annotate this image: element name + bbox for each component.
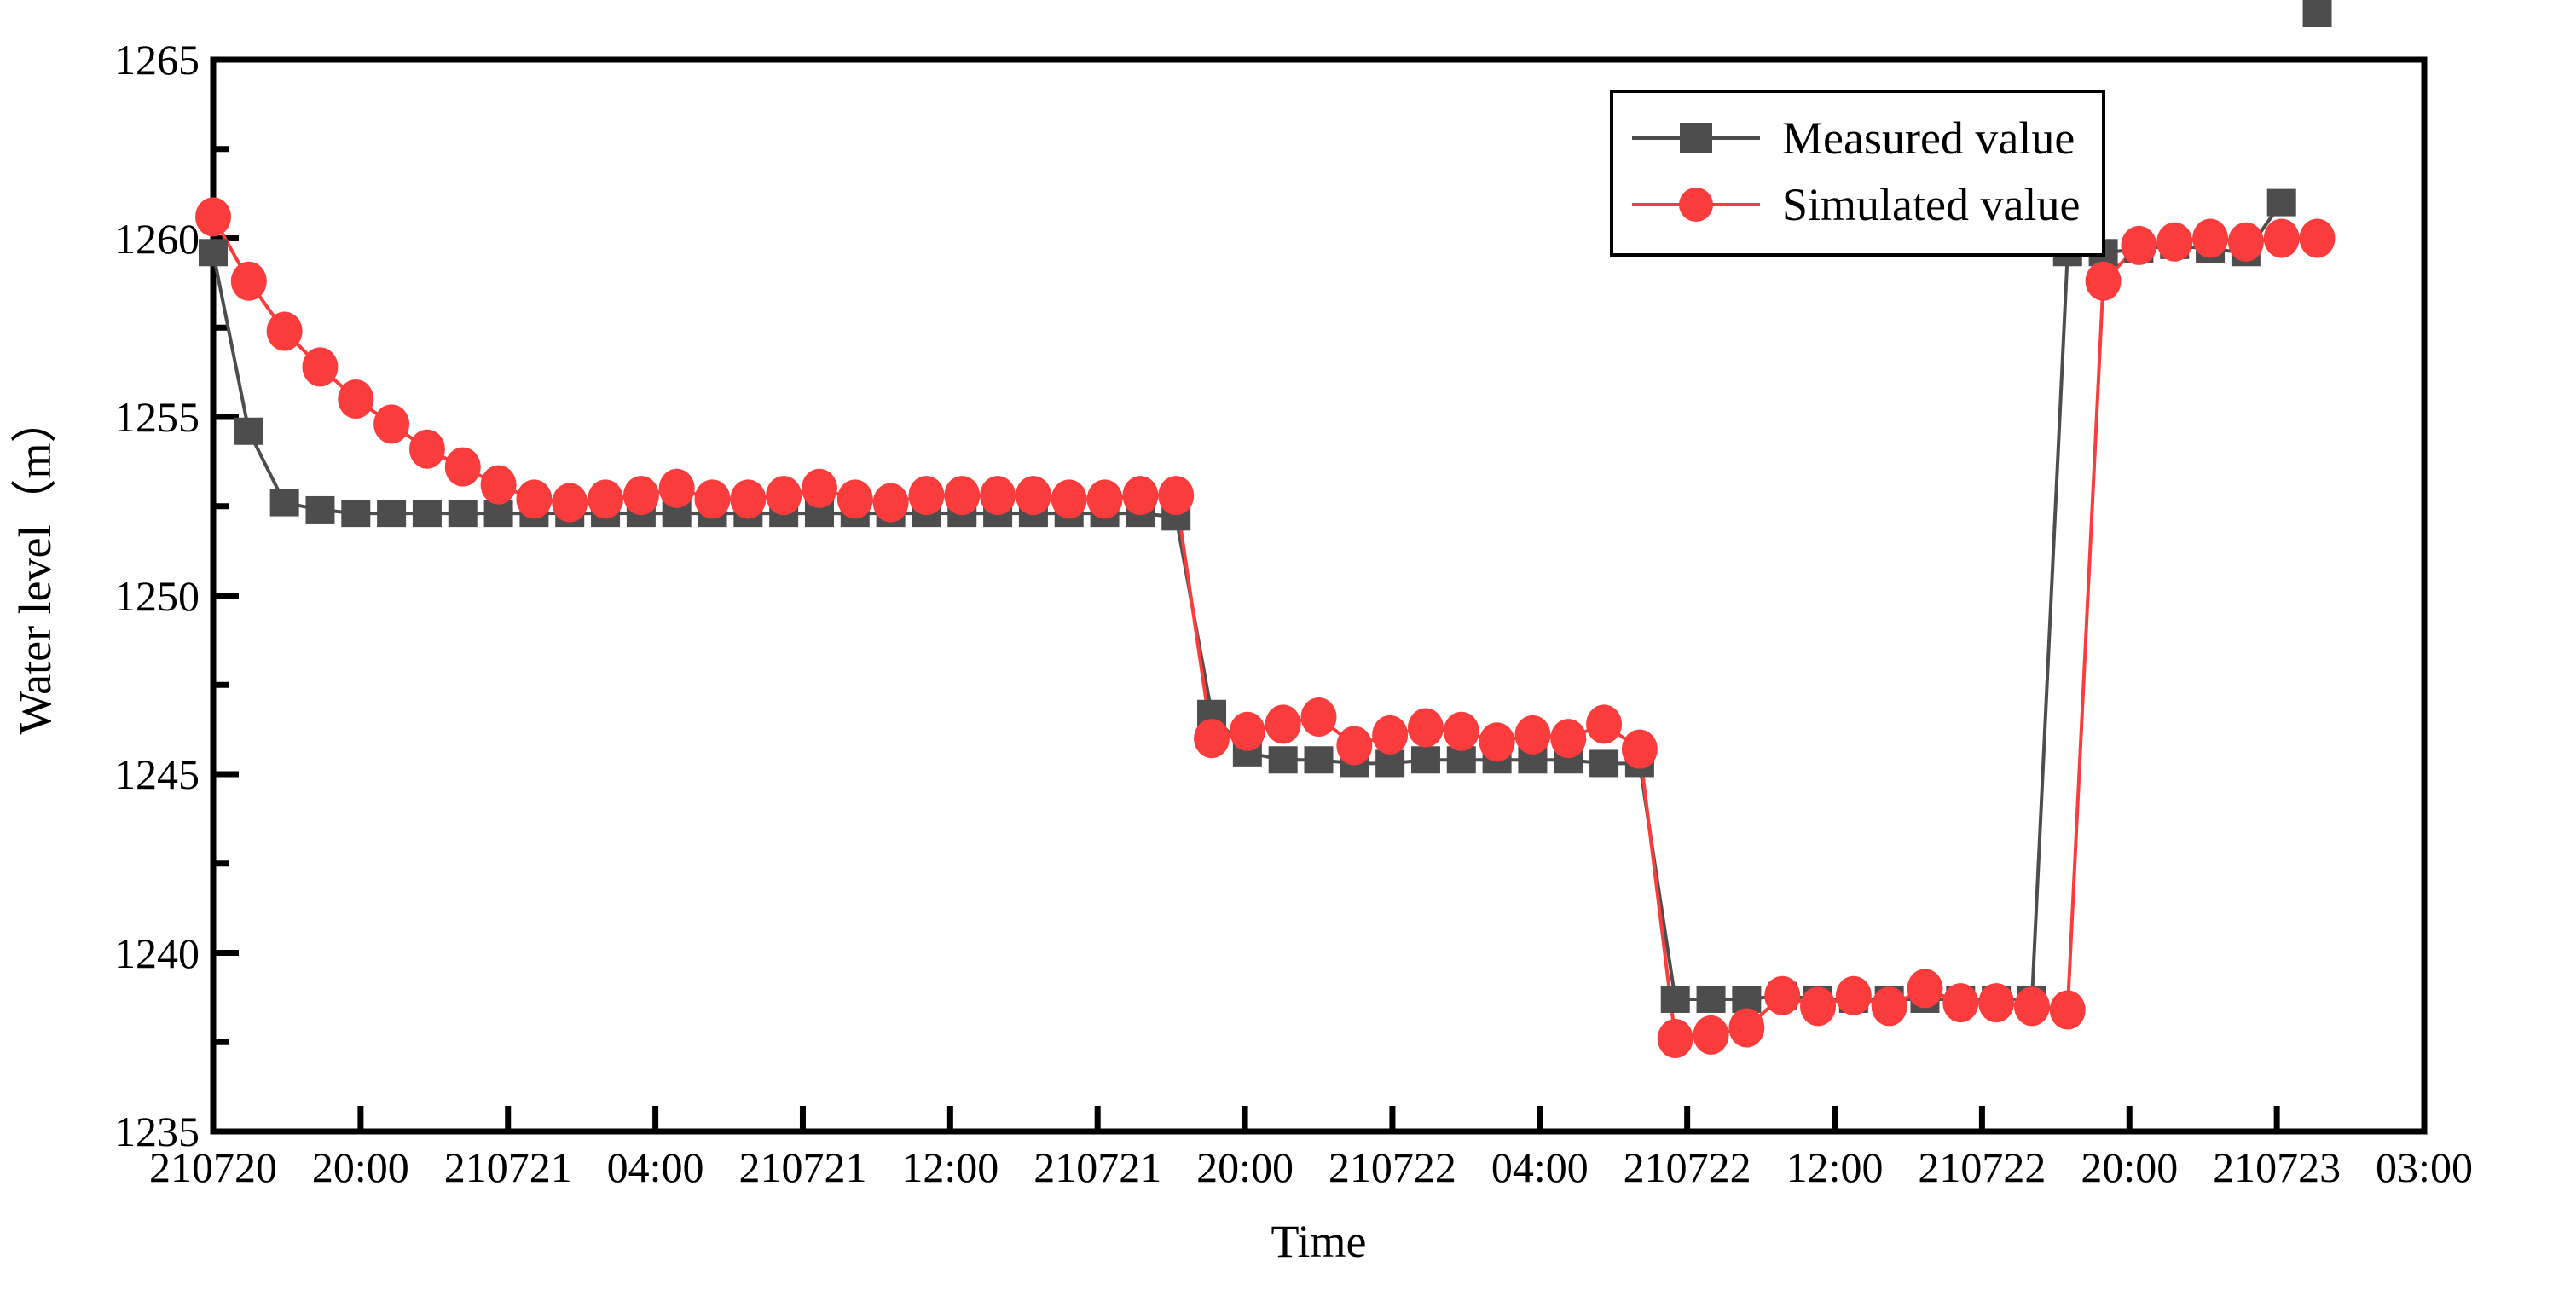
- data-point-measured: [2267, 189, 2296, 217]
- x-axis-tick-label: 210721: [444, 1143, 572, 1192]
- data-point-simulated: [730, 479, 766, 518]
- data-point-simulated: [338, 379, 373, 419]
- data-point-measured: [449, 500, 478, 527]
- circle-marker-icon: [1679, 188, 1713, 222]
- data-point-simulated: [1586, 704, 1622, 743]
- data-point-measured: [2303, 0, 2332, 27]
- x-axis-tick-label: 03:00: [2376, 1143, 2473, 1192]
- data-point-measured: [377, 500, 406, 527]
- data-point-simulated: [588, 479, 623, 518]
- data-point-simulated: [766, 476, 802, 515]
- data-point-simulated: [1016, 476, 1051, 515]
- data-point-simulated: [908, 476, 944, 515]
- data-point-simulated: [1479, 722, 1515, 761]
- data-point-measured: [199, 239, 228, 266]
- data-point-simulated: [1978, 983, 2014, 1022]
- data-point-simulated: [1942, 983, 1978, 1022]
- data-point-simulated: [623, 476, 659, 515]
- data-point-simulated: [2050, 991, 2086, 1030]
- data-point-simulated: [1658, 1019, 1693, 1058]
- data-point-simulated: [837, 479, 873, 518]
- data-point-simulated: [873, 483, 909, 523]
- x-axis-tick-label: 210720: [149, 1143, 277, 1192]
- x-axis-title: Time: [213, 1215, 2424, 1268]
- data-point-simulated: [1158, 476, 1194, 515]
- data-point-simulated: [481, 466, 517, 505]
- data-point-simulated: [1622, 730, 1658, 769]
- data-point-measured: [1411, 746, 1440, 773]
- data-point-simulated: [695, 479, 731, 518]
- x-axis-tick-label: 210723: [2213, 1143, 2341, 1192]
- x-axis-tick-labels: 21072020:0021072104:0021072112:002107212…: [0, 1143, 2576, 1211]
- data-point-simulated: [445, 448, 481, 487]
- data-point-simulated: [1301, 697, 1337, 737]
- data-point-simulated: [409, 430, 445, 469]
- x-axis-tick-label: 12:00: [901, 1143, 999, 1192]
- data-point-measured: [1269, 746, 1298, 773]
- data-point-simulated: [1051, 479, 1087, 518]
- data-point-measured: [234, 418, 263, 445]
- data-point-simulated: [1728, 1008, 1764, 1047]
- data-point-measured: [1305, 746, 1334, 773]
- x-axis-tick-label: 20:00: [2081, 1143, 2178, 1192]
- data-point-simulated: [516, 479, 552, 518]
- x-axis-tick-label: 210722: [1624, 1143, 1751, 1192]
- data-point-simulated: [2300, 219, 2336, 258]
- x-axis-tick-label: 210721: [738, 1143, 866, 1192]
- data-point-simulated: [1907, 969, 1942, 1008]
- data-point-simulated: [1372, 715, 1408, 755]
- plot-area: [0, 0, 2576, 1296]
- data-point-simulated: [1265, 704, 1301, 743]
- data-point-simulated: [1087, 479, 1123, 518]
- data-point-simulated: [2192, 219, 2228, 258]
- legend-item-simulated[interactable]: Simulated value: [1632, 171, 2080, 238]
- x-axis-tick-label: 12:00: [1786, 1143, 1884, 1192]
- data-point-simulated: [2228, 223, 2264, 262]
- data-point-simulated: [1693, 1015, 1729, 1055]
- data-point-simulated: [1800, 986, 1836, 1026]
- data-point-simulated: [2086, 262, 2122, 301]
- data-point-simulated: [302, 347, 338, 386]
- data-point-simulated: [1836, 976, 1872, 1015]
- x-axis-tick-label: 210721: [1033, 1143, 1161, 1192]
- data-point-simulated: [267, 311, 303, 350]
- data-point-simulated: [2156, 223, 2192, 262]
- data-point-simulated: [1514, 715, 1550, 755]
- data-point-simulated: [1230, 712, 1265, 751]
- data-point-simulated: [980, 476, 1016, 515]
- data-point-simulated: [1550, 719, 1586, 758]
- chart-figure: Water level（m） 1235124012451250125512601…: [0, 0, 2576, 1296]
- chart-legend: Measured value Simulated value: [1610, 90, 2105, 257]
- data-point-measured: [270, 489, 299, 517]
- data-point-simulated: [1122, 476, 1158, 515]
- data-point-simulated: [1872, 986, 1907, 1026]
- data-point-simulated: [2264, 219, 2300, 258]
- data-point-measured: [413, 500, 442, 527]
- data-point-measured: [1661, 986, 1690, 1013]
- data-point-measured: [1589, 749, 1618, 777]
- x-axis-tick-label: 20:00: [1196, 1143, 1294, 1192]
- legend-item-measured[interactable]: Measured value: [1632, 105, 2080, 171]
- data-point-simulated: [944, 476, 980, 515]
- data-point-simulated: [1764, 976, 1800, 1015]
- data-point-simulated: [1408, 709, 1444, 748]
- data-point-simulated: [659, 469, 695, 508]
- data-point-simulated: [2014, 986, 2050, 1026]
- series-line-simulated: [213, 217, 2318, 1039]
- x-axis-tick-label: 210722: [1329, 1143, 1456, 1192]
- data-point-simulated: [195, 197, 231, 236]
- data-point-simulated: [2121, 226, 2156, 265]
- data-point-simulated: [373, 404, 409, 443]
- series-line-measured: [213, 203, 2282, 999]
- legend-swatch-measured: [1632, 113, 1760, 164]
- data-point-simulated: [1336, 726, 1372, 765]
- data-point-measured: [1697, 986, 1726, 1013]
- data-point-simulated: [231, 262, 267, 301]
- data-point-simulated: [802, 469, 837, 508]
- data-point-simulated: [1194, 719, 1230, 758]
- x-axis-tick-label: 04:00: [607, 1143, 704, 1192]
- data-point-measured: [341, 500, 370, 527]
- data-point-simulated: [1444, 712, 1479, 751]
- legend-swatch-simulated: [1632, 179, 1760, 230]
- x-axis-tick-label: 04:00: [1491, 1143, 1589, 1192]
- legend-label-simulated: Simulated value: [1782, 182, 2080, 228]
- square-marker-icon: [1680, 123, 1712, 153]
- x-axis-tick-label: 210722: [1918, 1143, 2046, 1192]
- x-axis-tick-label: 20:00: [312, 1143, 409, 1192]
- legend-label-measured: Measured value: [1782, 115, 2075, 161]
- data-point-simulated: [552, 483, 588, 523]
- data-point-measured: [305, 496, 334, 524]
